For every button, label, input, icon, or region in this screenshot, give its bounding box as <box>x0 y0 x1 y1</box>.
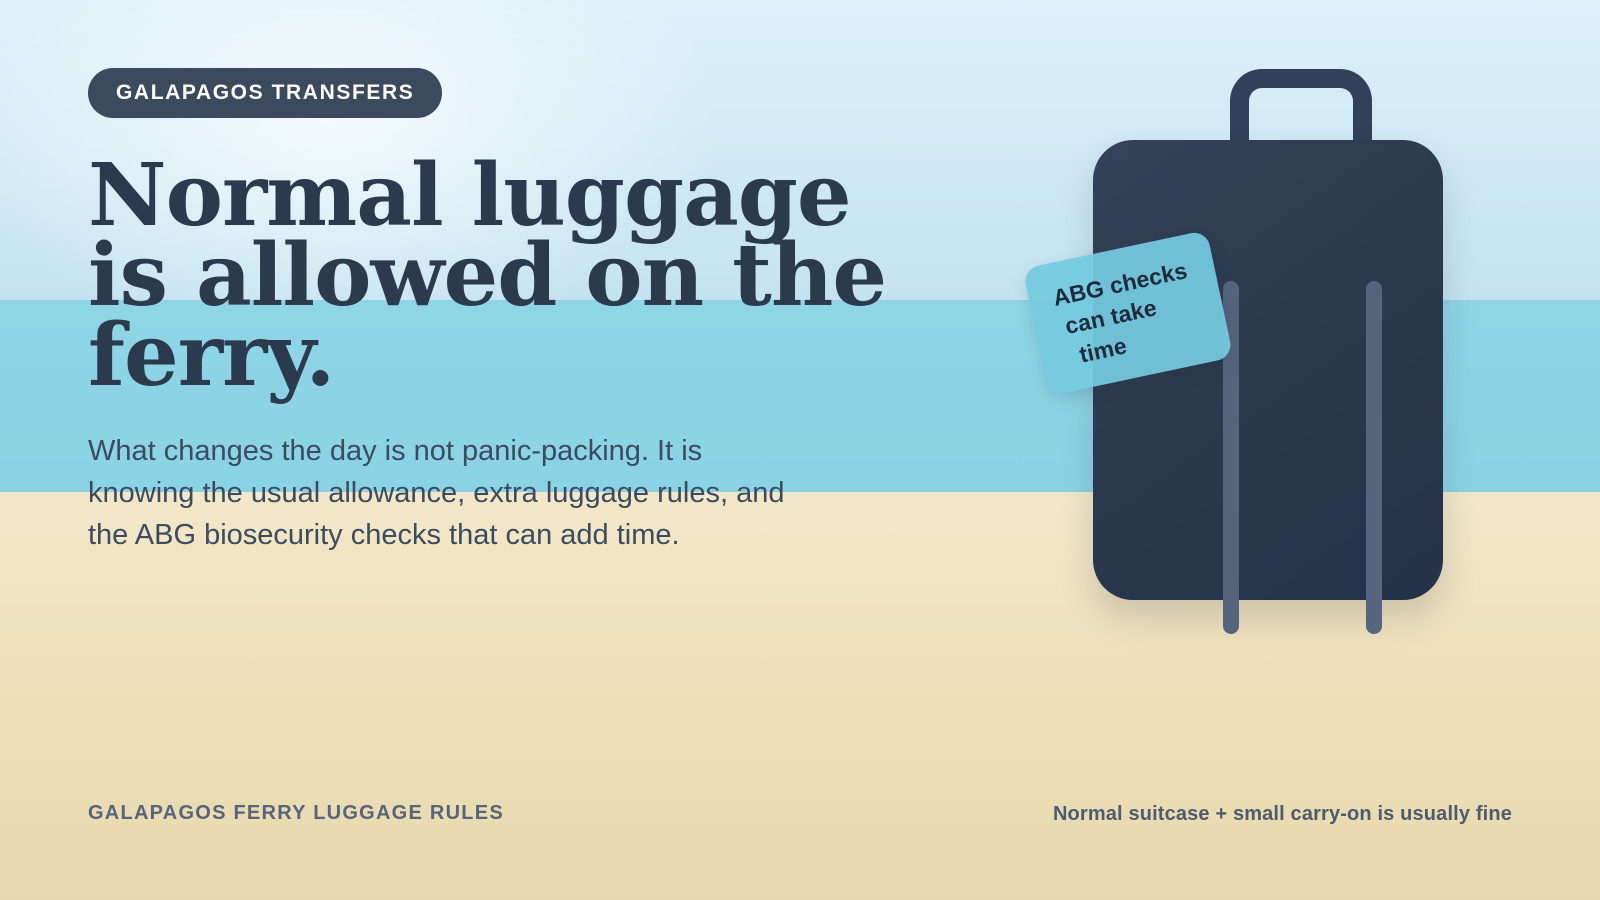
suitcase-stripe-right <box>1366 281 1382 634</box>
content-column: GALAPAGOS TRANSFERS Normal luggage is al… <box>88 68 888 556</box>
page-subtitle: What changes the day is not panic-packin… <box>88 430 803 556</box>
poster-canvas: ABG checks can take time GALAPAGOS TRANS… <box>0 0 1600 900</box>
page-title: Normal luggage is allowed on the ferry. <box>88 156 888 396</box>
brand-badge: GALAPAGOS TRANSFERS <box>88 68 442 118</box>
footer-right-label: Normal suitcase + small carry-on is usua… <box>1053 803 1512 826</box>
footer-left-label: GALAPAGOS FERRY LUGGAGE RULES <box>88 802 504 825</box>
